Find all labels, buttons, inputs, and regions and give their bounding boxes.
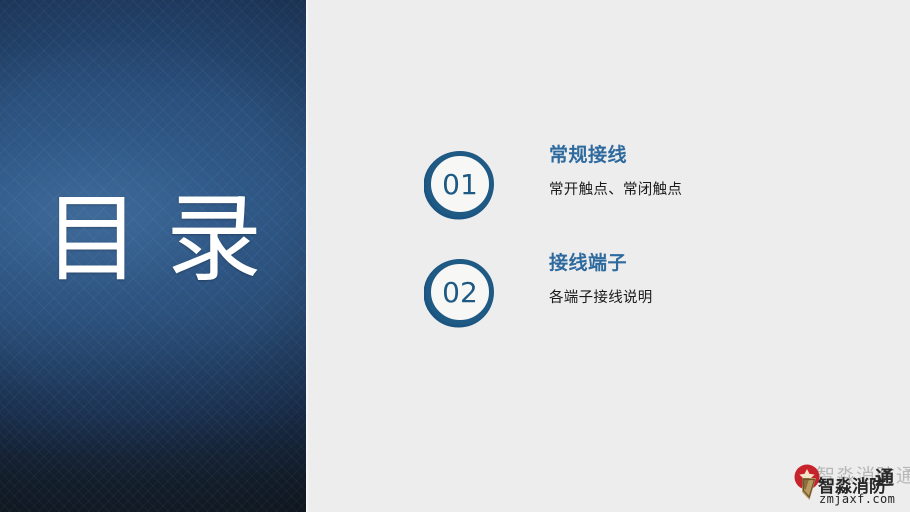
left-title-panel: 目录	[0, 0, 306, 512]
number-badge-01: 01	[424, 148, 496, 220]
list-item[interactable]: 02 接线端子 各端子接线说明	[424, 250, 864, 358]
number-badge-02: 02	[424, 256, 496, 328]
list-item-heading: 接线端子	[549, 250, 653, 276]
list-item-subtitle: 常开触点、常闭触点	[549, 180, 682, 200]
list-item-heading: 常规接线	[549, 142, 682, 168]
watermark-url: zmjaxf.com	[819, 492, 895, 506]
watermark: 智淼消防通 通 智淼消防 zmjaxf.com	[786, 456, 910, 512]
list-item-text: 接线端子 各端子接线说明	[549, 250, 653, 308]
panel-divider	[306, 0, 309, 512]
slide-canvas: 目录 01 常规接线 常开触点、常闭触点 02	[0, 0, 910, 512]
list-item-text: 常规接线 常开触点、常闭触点	[549, 142, 682, 200]
list-item-subtitle: 各端子接线说明	[549, 288, 653, 308]
table-of-contents: 01 常规接线 常开触点、常闭触点 02 接线端子 各端子接线说明	[424, 142, 864, 358]
badge-number: 02	[424, 256, 496, 328]
page-title: 目录	[44, 180, 288, 298]
badge-number: 01	[424, 148, 496, 220]
list-item[interactable]: 01 常规接线 常开触点、常闭触点	[424, 142, 864, 250]
